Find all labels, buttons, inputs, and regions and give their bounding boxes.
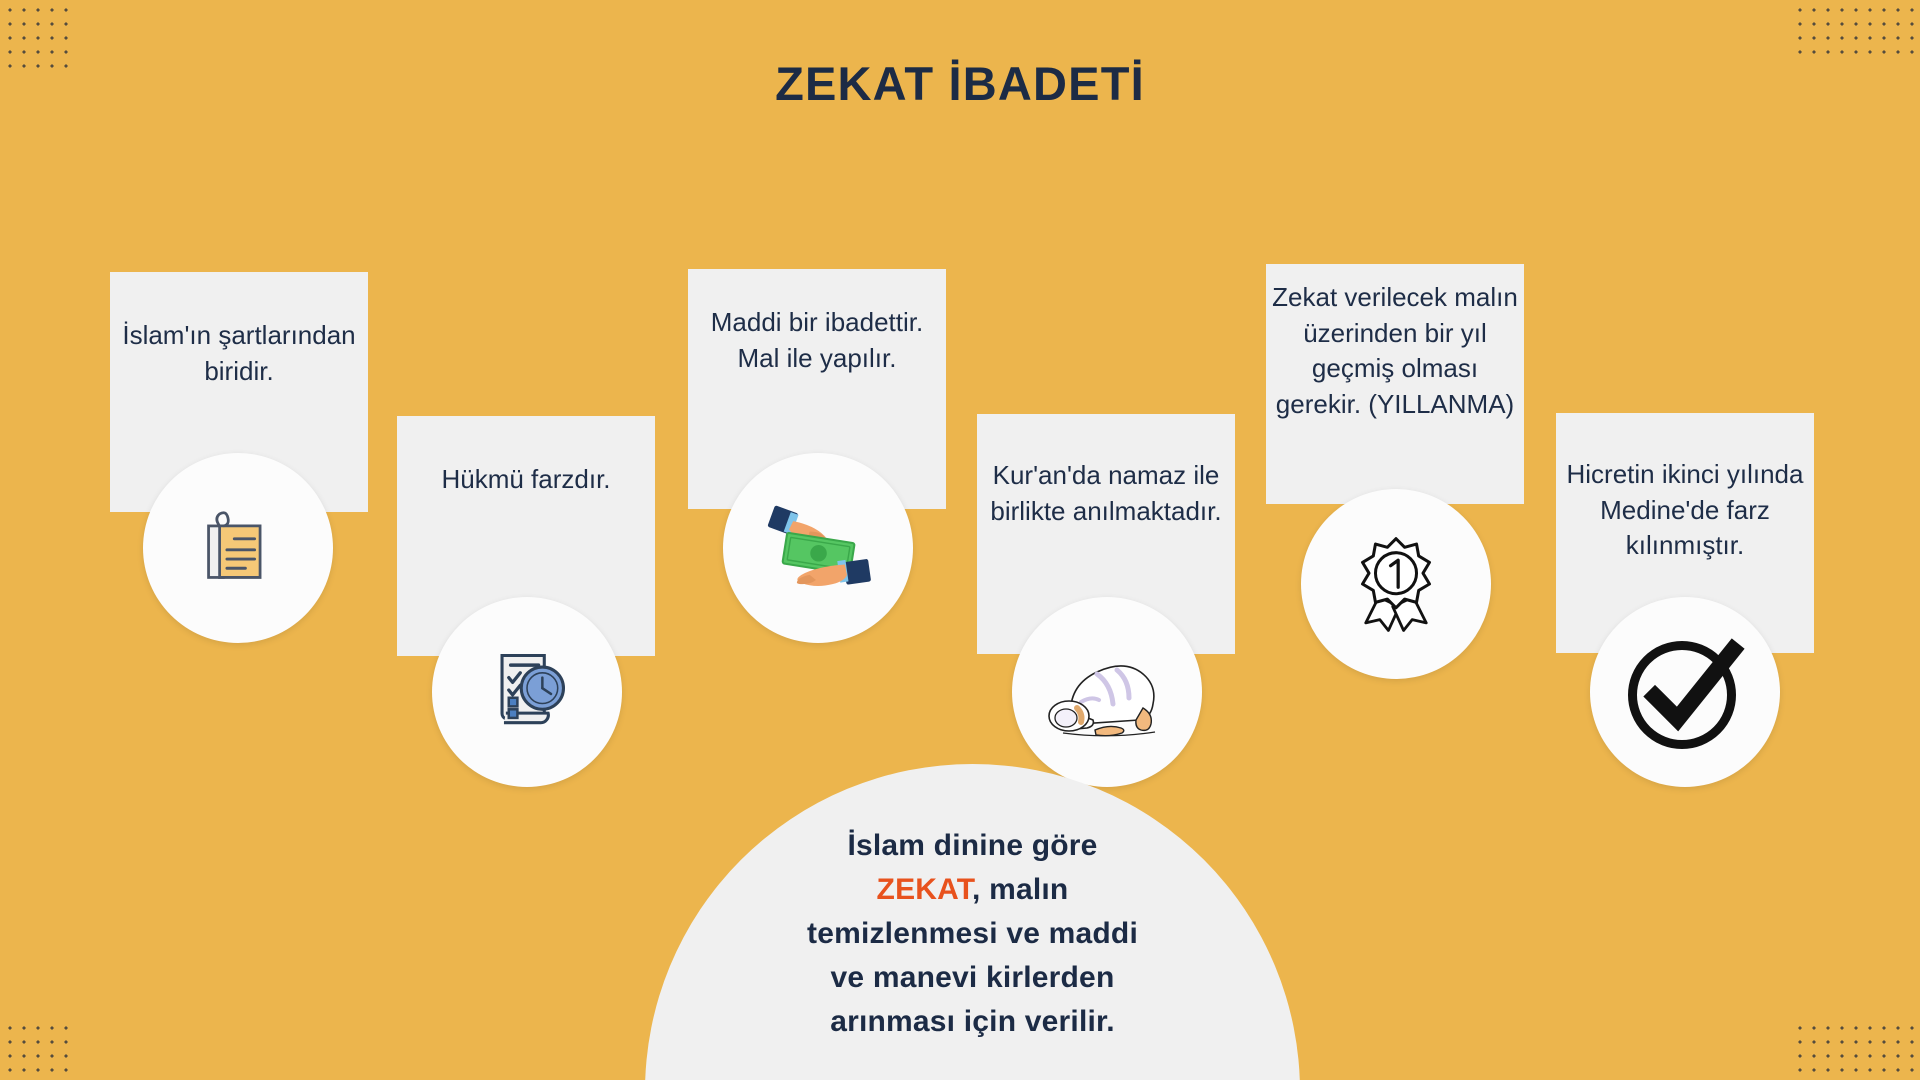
summary-line-3: temizlenmesi ve maddi bbox=[807, 917, 1138, 950]
icon-circle-1 bbox=[143, 453, 333, 643]
scroll-document-icon bbox=[192, 502, 284, 594]
icon-circle-2 bbox=[432, 597, 622, 787]
summary-line-5: arınması için verilir. bbox=[830, 1005, 1115, 1038]
person-praying-sujud-icon bbox=[1037, 632, 1177, 752]
hands-giving-money-icon bbox=[756, 486, 880, 610]
page-title: ZEKAT İBADETİ bbox=[0, 56, 1920, 111]
info-card-2-text: Hükmü farzdır. bbox=[397, 462, 655, 498]
info-card-5-text: Zekat verilecek malın üzerinden bir yıl … bbox=[1266, 280, 1524, 422]
info-card-1-text: İslam'ın şartlarından biridir. bbox=[110, 318, 368, 389]
icon-circle-6 bbox=[1590, 597, 1780, 787]
checklist-clock-icon bbox=[479, 644, 575, 740]
summary-circle: İslam dinine göre ZEKAT, malın temizlenm… bbox=[645, 764, 1300, 1080]
icon-circle-4 bbox=[1012, 597, 1202, 787]
award-ribbon-one-icon bbox=[1342, 530, 1450, 638]
info-card-5: Zekat verilecek malın üzerinden bir yıl … bbox=[1266, 264, 1524, 504]
icon-circle-3 bbox=[723, 453, 913, 643]
infographic-canvas: ZEKAT İBADETİ İslam'ın şartlarından biri… bbox=[0, 0, 1920, 1080]
dot-pattern-top-right-icon bbox=[1790, 0, 1920, 62]
summary-line-1: İslam dinine göre bbox=[847, 829, 1097, 862]
summary-text: İslam dinine göre ZEKAT, malın temizlenm… bbox=[758, 824, 1188, 1080]
info-card-6-text: Hicretin ikinci yılında Medine'de farz k… bbox=[1556, 457, 1814, 564]
icon-circle-5 bbox=[1301, 489, 1491, 679]
summary-highlight-zekat: ZEKAT bbox=[877, 873, 972, 906]
summary-line-2-rest: , malın bbox=[972, 873, 1068, 906]
info-card-4-text: Kur'an'da namaz ile birlikte anılmaktadı… bbox=[977, 458, 1235, 529]
check-circle-icon bbox=[1610, 617, 1760, 767]
summary-line-4: ve manevi kirlerden bbox=[831, 961, 1115, 994]
dot-pattern-bottom-right-icon bbox=[1790, 1018, 1920, 1080]
dot-pattern-bottom-left-icon bbox=[0, 1018, 76, 1080]
info-card-3-text: Maddi bir ibadettir. Mal ile yapılır. bbox=[688, 305, 946, 376]
